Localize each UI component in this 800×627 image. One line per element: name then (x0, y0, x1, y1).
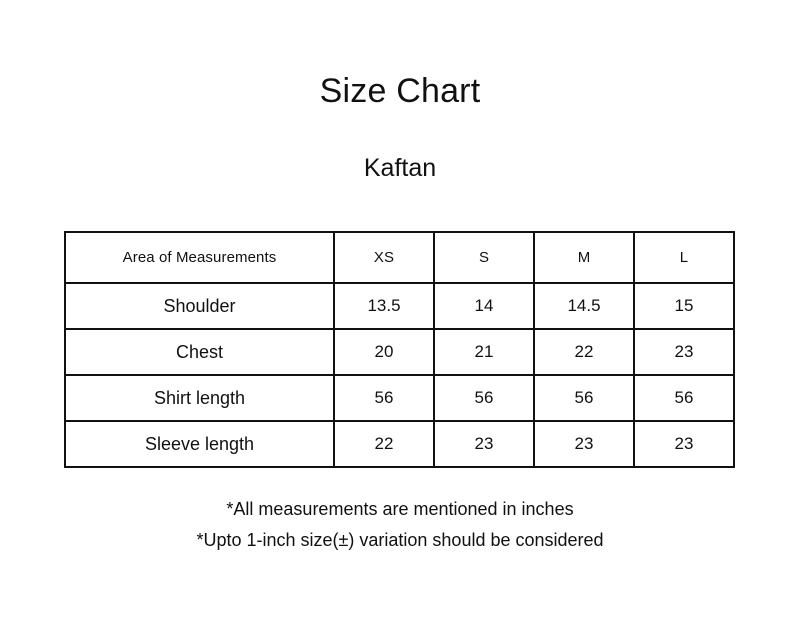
cell-sleeve-length-xs: 22 (334, 421, 434, 467)
header-size-s: S (434, 232, 534, 283)
cell-chest-xs: 20 (334, 329, 434, 375)
row-label-sleeve-length: Sleeve length (65, 421, 334, 467)
size-chart-page: Size Chart Kaftan Area of Measurements X… (0, 0, 800, 627)
header-size-l: L (634, 232, 734, 283)
cell-sleeve-length-s: 23 (434, 421, 534, 467)
cell-chest-l: 23 (634, 329, 734, 375)
cell-shirt-length-xs: 56 (334, 375, 434, 421)
table-row: Sleeve length 22 23 23 23 (65, 421, 734, 467)
row-label-chest: Chest (65, 329, 334, 375)
cell-shoulder-s: 14 (434, 283, 534, 329)
size-table-container: Area of Measurements XS S M L Shoulder 1… (64, 231, 735, 468)
table-row: Chest 20 21 22 23 (65, 329, 734, 375)
cell-shirt-length-m: 56 (534, 375, 634, 421)
product-name-subtitle: Kaftan (0, 152, 800, 184)
page-title: Size Chart (0, 70, 800, 112)
cell-chest-m: 22 (534, 329, 634, 375)
size-chart-table: Area of Measurements XS S M L Shoulder 1… (64, 231, 735, 468)
cell-shirt-length-l: 56 (634, 375, 734, 421)
table-header-row: Area of Measurements XS S M L (65, 232, 734, 283)
cell-shirt-length-s: 56 (434, 375, 534, 421)
footnotes: *All measurements are mentioned in inche… (0, 494, 800, 556)
cell-shoulder-m: 14.5 (534, 283, 634, 329)
footnote-units: *All measurements are mentioned in inche… (0, 494, 800, 525)
header-size-xs: XS (334, 232, 434, 283)
row-label-shoulder: Shoulder (65, 283, 334, 329)
table-body: Shoulder 13.5 14 14.5 15 Chest 20 21 22 … (65, 283, 734, 467)
cell-chest-s: 21 (434, 329, 534, 375)
table-header: Area of Measurements XS S M L (65, 232, 734, 283)
cell-shoulder-l: 15 (634, 283, 734, 329)
footnote-variation: *Upto 1-inch size(±) variation should be… (0, 525, 800, 556)
cell-sleeve-length-m: 23 (534, 421, 634, 467)
cell-shoulder-xs: 13.5 (334, 283, 434, 329)
row-label-shirt-length: Shirt length (65, 375, 334, 421)
table-row: Shirt length 56 56 56 56 (65, 375, 734, 421)
table-row: Shoulder 13.5 14 14.5 15 (65, 283, 734, 329)
cell-sleeve-length-l: 23 (634, 421, 734, 467)
header-size-m: M (534, 232, 634, 283)
header-area-of-measurements: Area of Measurements (65, 232, 334, 283)
